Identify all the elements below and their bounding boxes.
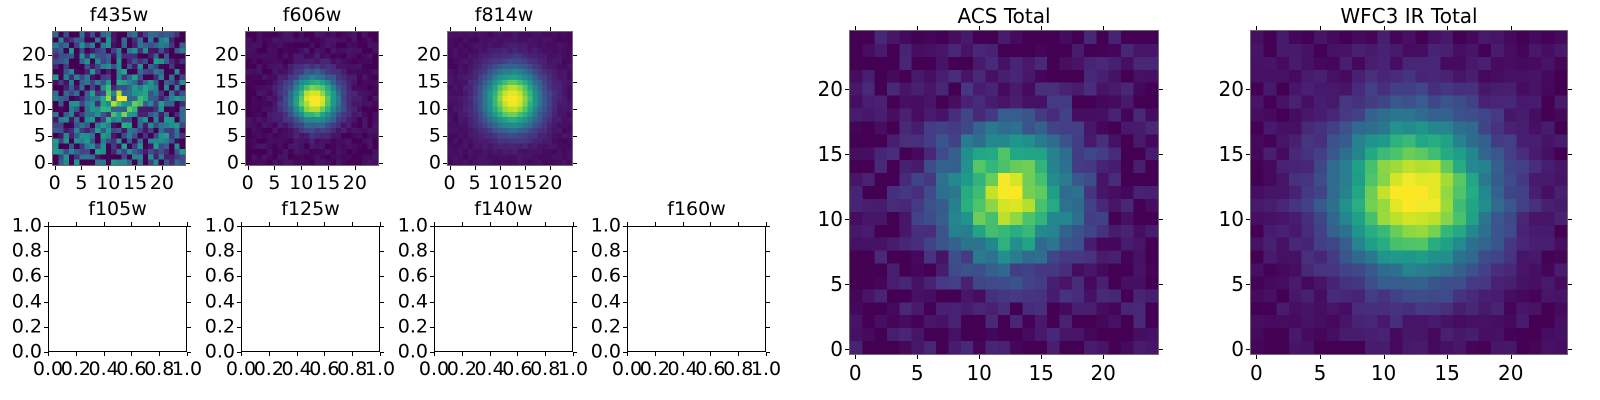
x-tick-label: 0.0 [33,360,63,379]
x-tick [462,222,463,226]
y-tick-label: 0 [1231,339,1244,359]
empty-axes-f105w[interactable] [48,226,187,352]
x-tick-label: 0.4 [88,360,118,379]
x-tick [159,222,160,226]
y-tick [845,219,849,220]
x-tick-label: 5 [268,174,280,193]
x-tick [76,352,77,356]
panel-title-f814w: f814w [385,6,623,25]
panel-f105w: f105w 0.00.20.40.60.81.00.00.20.40.60.81… [0,195,200,400]
y-tick [430,302,434,303]
y-tick-label: 0.4 [205,292,235,311]
y-tick-label: 10 [1219,209,1244,229]
x-tick-label: 0 [849,363,862,383]
x-tick [655,222,656,226]
y-tick [1159,349,1163,350]
y-tick [573,251,577,252]
y-tick [379,163,383,164]
y-tick-label: 0.2 [205,317,235,336]
x-tick-label: 0.2 [254,360,284,379]
x-tick [301,27,302,31]
y-tick-label: 0.0 [591,343,621,362]
x-tick [328,27,329,31]
x-tick [1103,355,1104,359]
x-tick [55,166,56,170]
y-tick [187,226,191,227]
x-tick [434,222,435,226]
x-tick-label: 0.6 [309,360,339,379]
y-tick [241,136,245,137]
y-tick-label: 20 [215,46,239,65]
x-tick-label: 0.0 [419,360,449,379]
y-tick [573,302,577,303]
x-tick-label: 10 [96,174,120,193]
y-tick [48,163,52,164]
y-tick [443,163,447,164]
y-tick [1568,219,1572,220]
x-tick [48,222,49,226]
panel-f435w: f435w 0510152005101520 [0,0,200,190]
y-tick-label: 0 [227,154,239,173]
x-tick-label: 10 [1371,363,1396,383]
y-tick [573,82,577,83]
x-tick [1447,355,1448,359]
y-tick [186,82,190,83]
x-tick [627,352,628,356]
x-tick [545,222,546,226]
x-tick-label: 1.0 [751,360,781,379]
y-tick [1159,89,1163,90]
y-tick [379,136,383,137]
y-tick [187,352,191,353]
x-tick [355,27,356,31]
x-tick [1041,355,1042,359]
y-tick [380,302,384,303]
figure-canvas: f435w 0510152005101520 f606w 05101520051… [0,0,1600,400]
x-tick [81,166,82,170]
x-tick-label: 0.2 [640,360,670,379]
y-tick [573,226,577,227]
y-tick [1246,349,1250,350]
x-tick [104,352,105,356]
y-tick-label: 0.6 [205,267,235,286]
panel-f140w: f140w 0.00.20.40.60.81.00.00.20.40.60.81… [386,195,586,400]
x-tick [917,26,918,30]
y-tick [1246,219,1250,220]
x-tick [550,27,551,31]
y-tick [1159,284,1163,285]
y-tick [1159,219,1163,220]
x-tick-label: 0 [49,174,61,193]
y-tick [623,251,627,252]
y-tick [1568,154,1572,155]
y-tick [573,136,577,137]
y-tick [44,327,48,328]
y-tick-label: 20 [1219,79,1244,99]
y-tick [1246,89,1250,90]
x-tick [48,352,49,356]
y-tick [187,276,191,277]
y-tick [44,251,48,252]
heatmap-f606w[interactable] [245,31,379,166]
y-tick [241,82,245,83]
panel-acs-total: ACS Total 0510152005101520 [800,0,1180,400]
y-tick [186,109,190,110]
y-tick [845,154,849,155]
panel-title-wfc3-ir-total: WFC3 IR Total [1250,6,1568,26]
x-tick [475,166,476,170]
x-tick [738,352,739,356]
empty-axes-f160w[interactable] [627,226,766,352]
y-tick [623,352,627,353]
y-tick [186,136,190,137]
x-tick [76,222,77,226]
x-tick-label: 20 [150,174,174,193]
y-tick-label: 1.0 [591,217,621,236]
y-tick-label: 0 [830,339,843,359]
y-tick [187,302,191,303]
y-tick-label: 5 [830,274,843,294]
x-tick [352,222,353,226]
x-tick [979,26,980,30]
y-tick-label: 20 [22,46,46,65]
x-tick [1256,355,1257,359]
y-tick [766,276,770,277]
y-tick-label: 0.2 [591,317,621,336]
x-tick [855,26,856,30]
x-tick [710,352,711,356]
y-tick [573,55,577,56]
x-tick [104,222,105,226]
x-tick-label: 0.4 [667,360,697,379]
y-tick [44,226,48,227]
x-tick [450,166,451,170]
y-tick-label: 0.0 [398,343,428,362]
x-tick-label: 20 [538,174,562,193]
x-tick [500,27,501,31]
y-tick [766,327,770,328]
x-tick [1320,26,1321,30]
y-tick [44,302,48,303]
heatmap-wfc3-ir-total[interactable] [1250,30,1568,355]
x-tick-label: 20 [1498,363,1523,383]
empty-axes-f140w[interactable] [434,226,573,352]
y-tick [1568,349,1572,350]
x-tick [269,352,270,356]
y-tick [237,276,241,277]
x-tick-label: 0.4 [281,360,311,379]
x-tick [855,355,856,359]
y-tick [573,163,577,164]
x-tick [517,352,518,356]
x-tick [1511,355,1512,359]
x-tick [159,352,160,356]
x-tick [627,222,628,226]
y-tick [845,89,849,90]
y-tick [186,55,190,56]
x-tick [1447,26,1448,30]
x-tick-label: 0.6 [502,360,532,379]
x-tick [525,27,526,31]
y-tick-label: 0.4 [398,292,428,311]
y-tick [443,82,447,83]
y-tick-label: 0 [429,154,441,173]
x-tick-label: 0 [242,174,254,193]
y-tick-label: 15 [22,73,46,92]
y-tick [430,352,434,353]
x-tick-label: 0.0 [226,360,256,379]
y-tick [623,226,627,227]
x-tick [81,27,82,31]
y-tick [443,136,447,137]
y-tick [766,251,770,252]
x-tick [490,222,491,226]
y-tick [380,251,384,252]
y-tick-label: 5 [1231,274,1244,294]
x-tick [241,222,242,226]
x-tick [324,352,325,356]
x-tick [108,27,109,31]
y-tick [241,55,245,56]
x-tick [475,27,476,31]
y-tick-label: 0.8 [12,242,42,261]
x-tick-label: 5 [469,174,481,193]
x-tick-label: 20 [1090,363,1115,383]
y-tick [1246,154,1250,155]
x-tick [550,166,551,170]
y-tick [623,276,627,277]
x-tick [274,27,275,31]
y-tick [443,109,447,110]
x-tick-label: 20 [343,174,367,193]
y-tick-label: 0.6 [398,267,428,286]
x-tick-label: 15 [1028,363,1053,383]
y-tick [573,276,577,277]
x-tick [545,352,546,356]
panel-wfc3-ir-total: WFC3 IR Total 0510152005101520 [1180,0,1600,400]
y-tick [573,327,577,328]
y-tick-label: 0.8 [205,242,235,261]
x-tick-label: 10 [488,174,512,193]
y-tick-label: 15 [417,73,441,92]
x-tick-label: 0.8 [337,360,367,379]
y-tick-label: 0 [34,154,46,173]
x-tick-label: 10 [966,363,991,383]
x-tick [710,222,711,226]
x-tick [108,166,109,170]
y-tick [430,327,434,328]
y-tick [380,276,384,277]
x-tick [135,27,136,31]
x-tick-label: 0.6 [695,360,725,379]
x-tick-label: 0.6 [116,360,146,379]
y-tick [380,327,384,328]
x-tick [301,166,302,170]
y-tick [1568,284,1572,285]
y-tick-label: 0.2 [12,317,42,336]
y-tick [44,276,48,277]
y-tick [379,109,383,110]
y-tick-label: 0.4 [591,292,621,311]
x-tick [500,166,501,170]
x-tick [683,352,684,356]
y-tick-label: 1.0 [12,217,42,236]
x-tick-label: 5 [911,363,924,383]
y-tick [241,109,245,110]
x-tick [352,352,353,356]
y-tick [237,226,241,227]
y-tick [623,302,627,303]
y-tick [379,55,383,56]
x-tick [269,222,270,226]
heatmap-f435w[interactable] [52,31,186,166]
y-tick [573,352,577,353]
y-tick [380,352,384,353]
y-tick [766,352,770,353]
x-tick [297,222,298,226]
y-tick-label: 0.2 [398,317,428,336]
x-tick [490,352,491,356]
y-tick-label: 5 [34,127,46,146]
x-tick [1103,26,1104,30]
heatmap-f814w[interactable] [447,31,573,166]
panel-f606w: f606w 0510152005101520 [193,0,393,190]
x-tick-label: 0.8 [530,360,560,379]
panel-f160w: f160w 0.00.20.40.60.81.00.00.20.40.60.81… [579,195,779,400]
x-tick [738,222,739,226]
y-tick-label: 0.0 [12,343,42,362]
y-tick-label: 0.8 [591,242,621,261]
y-tick-label: 10 [215,100,239,119]
y-tick [48,109,52,110]
x-tick [355,166,356,170]
y-tick [48,136,52,137]
x-tick [917,355,918,359]
y-tick-label: 5 [227,127,239,146]
y-tick [187,327,191,328]
x-tick [462,352,463,356]
y-tick [380,226,384,227]
x-tick-label: 0 [1250,363,1263,383]
x-tick-label: 0 [443,174,455,193]
x-tick-label: 15 [1434,363,1459,383]
y-tick-label: 10 [417,100,441,119]
y-tick [430,226,434,227]
x-tick [328,166,329,170]
y-tick [241,163,245,164]
y-tick [187,251,191,252]
y-tick-label: 0.6 [12,267,42,286]
x-tick-label: 10 [289,174,313,193]
y-tick-label: 15 [818,144,843,164]
x-tick [131,222,132,226]
y-tick [48,82,52,83]
y-tick [237,352,241,353]
x-tick [1384,355,1385,359]
y-tick-label: 20 [417,46,441,65]
x-tick-label: 0.8 [723,360,753,379]
x-tick [297,352,298,356]
empty-axes-f125w[interactable] [241,226,380,352]
x-tick [1511,26,1512,30]
x-tick [525,166,526,170]
x-tick [1320,355,1321,359]
x-tick [655,352,656,356]
panel-f814w: f814w 0510152005101520 [385,0,585,190]
x-tick-label: 0.2 [61,360,91,379]
x-tick [241,352,242,356]
y-tick [379,82,383,83]
x-tick-label: 0.0 [612,360,642,379]
panel-title-acs-total: ACS Total [849,6,1159,26]
x-tick [1384,26,1385,30]
x-tick-label: 5 [75,174,87,193]
x-tick-label: 0.4 [474,360,504,379]
y-tick [430,276,434,277]
y-tick-label: 10 [22,100,46,119]
y-tick [44,352,48,353]
x-tick [1041,26,1042,30]
x-tick [162,166,163,170]
y-tick [237,302,241,303]
x-tick [135,166,136,170]
x-tick-label: 0.2 [447,360,477,379]
y-tick [48,55,52,56]
y-tick [1568,89,1572,90]
y-tick [1159,154,1163,155]
x-tick [55,27,56,31]
y-tick-label: 0.4 [12,292,42,311]
x-tick [131,352,132,356]
y-tick-label: 0.0 [205,343,235,362]
y-tick-label: 15 [215,73,239,92]
y-tick-label: 0.8 [398,242,428,261]
y-tick-label: 5 [429,127,441,146]
y-tick [237,327,241,328]
y-tick [845,349,849,350]
y-tick [766,302,770,303]
x-tick-label: 15 [123,174,147,193]
x-tick [248,27,249,31]
y-tick-label: 0.6 [591,267,621,286]
x-tick-label: 15 [513,174,537,193]
x-tick [274,166,275,170]
panel-f125w: f125w 0.00.20.40.60.81.00.00.20.40.60.81… [193,195,393,400]
y-tick [443,55,447,56]
x-tick [517,222,518,226]
y-tick-label: 20 [818,79,843,99]
y-tick [1246,284,1250,285]
x-tick [450,27,451,31]
y-tick-label: 1.0 [205,217,235,236]
y-tick [766,226,770,227]
x-tick [979,355,980,359]
x-tick [248,166,249,170]
y-tick [623,327,627,328]
x-tick [683,222,684,226]
y-tick-label: 10 [818,209,843,229]
y-tick-label: 15 [1219,144,1244,164]
x-tick [324,222,325,226]
x-tick [434,352,435,356]
heatmap-acs-total[interactable] [849,30,1159,355]
y-tick [573,109,577,110]
y-tick [845,284,849,285]
x-tick [1256,26,1257,30]
y-tick [430,251,434,252]
y-tick [186,163,190,164]
x-tick-label: 15 [316,174,340,193]
